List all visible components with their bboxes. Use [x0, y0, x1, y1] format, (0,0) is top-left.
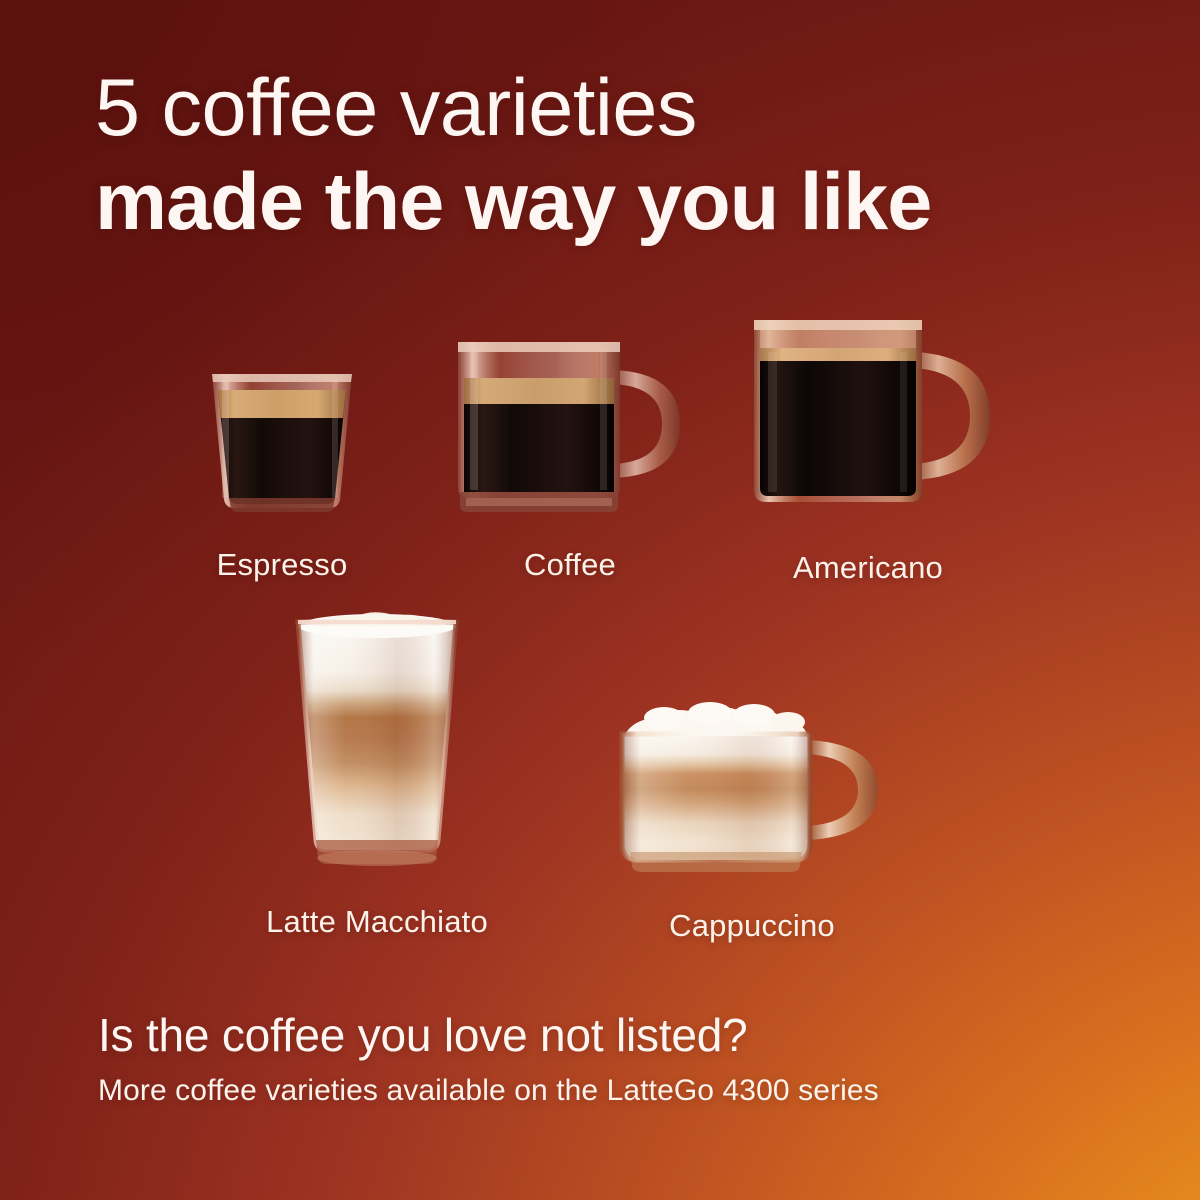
latte-macchiato-glass-icon — [262, 608, 492, 878]
beverage-latte-macchiato: Latte Macchiato — [262, 608, 492, 940]
espresso-label: Espresso — [182, 547, 382, 583]
coffee-label: Coffee — [430, 547, 710, 583]
headline-line-2: made the way you like — [95, 154, 1125, 250]
footer-note: More coffee varieties available on the L… — [98, 1072, 1118, 1110]
cappuccino-cup-icon — [602, 702, 902, 882]
espresso-glass-icon — [182, 360, 382, 525]
coffee-mug-icon — [430, 328, 710, 525]
headline: 5 coffee varieties made the way you like — [95, 62, 1125, 250]
cappuccino-label: Cappuccino — [602, 908, 902, 944]
coffee-varieties-poster: 5 coffee varieties made the way you like — [0, 0, 1200, 1200]
americano-mug-icon — [728, 308, 1008, 528]
beverage-coffee: Coffee — [430, 328, 710, 583]
beverage-cappuccino: Cappuccino — [602, 702, 902, 944]
footer-question: Is the coffee you love not listed? — [98, 1006, 1118, 1064]
americano-label: Americano — [728, 550, 1008, 586]
headline-line-1: 5 coffee varieties — [95, 62, 1125, 154]
footer-text-block: Is the coffee you love not listed? More … — [98, 1006, 1118, 1110]
beverage-americano: Americano — [728, 308, 1008, 586]
beverage-espresso: Espresso — [182, 360, 382, 583]
latte-macchiato-label: Latte Macchiato — [262, 904, 492, 940]
